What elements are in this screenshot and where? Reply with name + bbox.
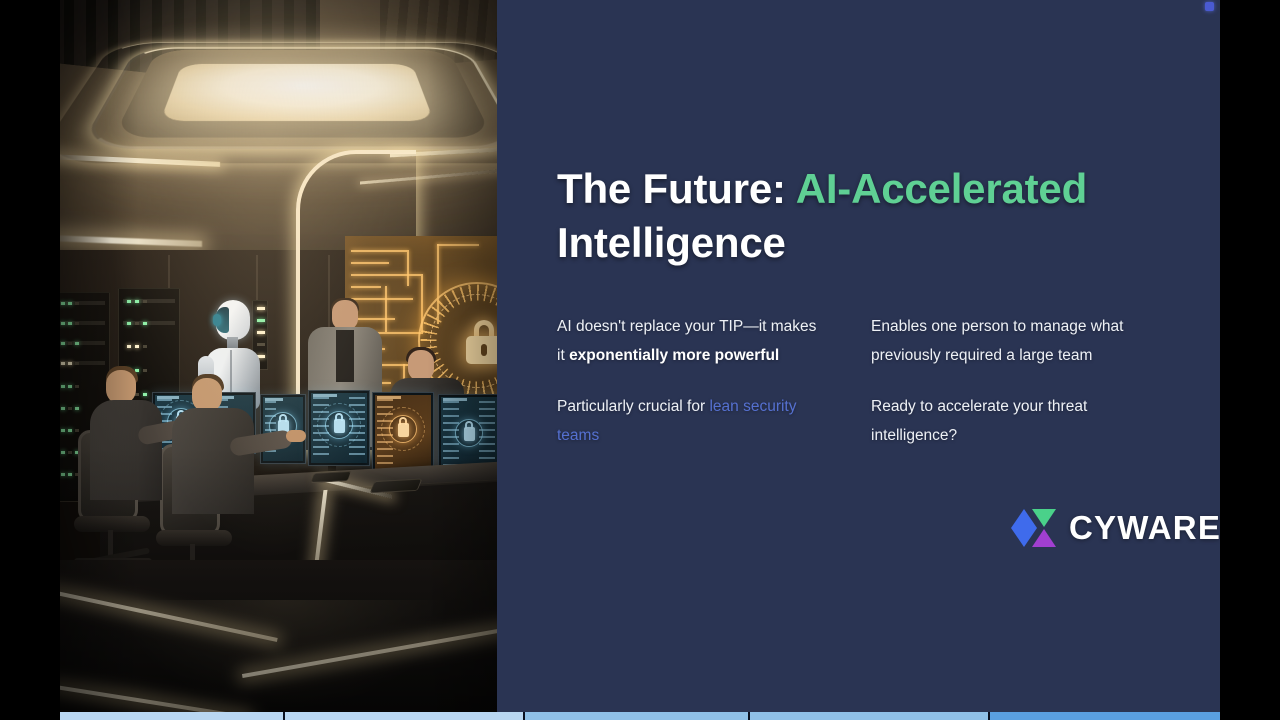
cta-paragraph: Ready to accelerate your threat intellig… bbox=[871, 392, 1139, 450]
video-progress-bar[interactable] bbox=[60, 712, 1220, 720]
cyware-logo: CYWARE ™ bbox=[1010, 505, 1220, 551]
slide-image bbox=[60, 0, 497, 720]
title-accent: AI-Accelerated bbox=[796, 165, 1087, 212]
body-columns: AI doesn't replace your TIP—it makes it … bbox=[557, 312, 1177, 451]
progress-segment[interactable] bbox=[525, 712, 750, 720]
one-person-paragraph: Enables one person to manage what previo… bbox=[871, 312, 1139, 370]
title-lead: The Future: bbox=[557, 165, 796, 212]
lean-teams-paragraph: Particularly crucial for lean security t… bbox=[557, 392, 825, 450]
title-line2: Intelligence bbox=[557, 219, 786, 266]
tip-paragraph: AI doesn't replace your TIP—it makes it … bbox=[557, 312, 825, 370]
tip-text-bold: exponentially more powerful bbox=[569, 347, 779, 364]
page-title: The Future: AI-Accelerated Intelligence bbox=[557, 162, 1177, 270]
slide-content: The Future: AI-Accelerated Intelligence … bbox=[497, 0, 1220, 720]
body-column-right: Enables one person to manage what previo… bbox=[871, 312, 1139, 451]
monitor bbox=[308, 390, 370, 466]
monitor-warm bbox=[372, 392, 434, 472]
lean-text-normal: Particularly crucial for bbox=[557, 398, 709, 415]
cyware-wordmark: CYWARE ™ bbox=[1069, 509, 1220, 547]
cyware-wordmark-text: CYWARE bbox=[1069, 509, 1220, 546]
progress-segment[interactable] bbox=[285, 712, 525, 720]
slide-canvas: The Future: AI-Accelerated Intelligence … bbox=[60, 0, 1220, 720]
monitor bbox=[260, 394, 306, 464]
padlock-icon bbox=[466, 320, 497, 364]
cursor-pointer bbox=[1205, 2, 1214, 11]
letterbox-right bbox=[1220, 0, 1280, 720]
progress-segment[interactable] bbox=[990, 712, 1220, 720]
progress-segment[interactable] bbox=[750, 712, 990, 720]
progress-segment[interactable] bbox=[60, 712, 285, 720]
letterbox-left bbox=[0, 0, 60, 720]
ceiling-light-panel bbox=[160, 64, 434, 121]
cyware-logo-mark bbox=[1010, 505, 1058, 551]
video-stage: The Future: AI-Accelerated Intelligence … bbox=[0, 0, 1280, 720]
body-column-left: AI doesn't replace your TIP—it makes it … bbox=[557, 312, 825, 451]
